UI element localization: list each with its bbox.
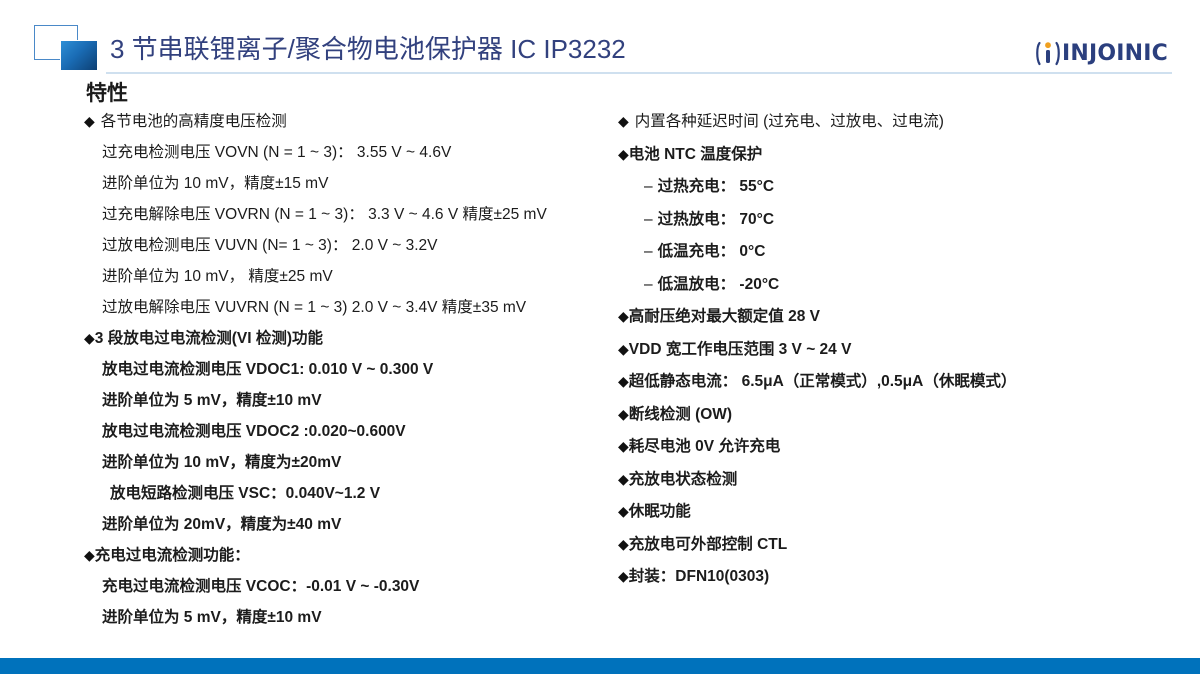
feature-line: ◆休眠功能 [618,502,1178,535]
feature-line: 放电短路检测电压 VSC：0.040V~1.2 V [84,484,629,515]
diamond-bullet-icon: ◆ [618,145,629,164]
feature-line-text: 过放电解除电压 VUVRN (N = 1 ~ 3) 2.0 V ~ 3.4V 精… [102,298,526,317]
diamond-bullet-icon: ◆ [84,329,95,348]
slide: 3 节串联锂离子/聚合物电池保护器 IC IP3232 INJOINIC 特性 … [0,0,1200,674]
feature-line-text: 3 段放电过电流检测(VI 检测)功能 [95,329,323,348]
feature-line-text: 耗尽电池 0V 允许充电 [629,437,781,456]
dash-bullet-icon: – [644,177,653,196]
diamond-bullet-icon: ◆ [618,535,629,554]
header-decoration-squares [34,25,106,71]
feature-line-text: 高耐压绝对最大额定值 28 V [629,307,820,326]
feature-line-text: 放电短路检测电压 VSC：0.040V~1.2 V [110,484,380,503]
feature-line-text: 放电过电流检测电压 VDOC2 :0.020~0.600V [102,422,406,441]
feature-line: 放电过电流检测电压 VDOC2 :0.020~0.600V [84,422,629,453]
diamond-bullet-icon: ◆ [618,372,629,391]
header-divider [106,72,1172,74]
feature-line: –过热放电： 70°C [618,210,1178,243]
feature-line-text: 过充电检测电压 VOVN (N = 1 ~ 3)： 3.55 V ~ 4.6V [102,143,451,162]
feature-line-text: 过放电检测电压 VUVN (N= 1 ~ 3)： 2.0 V ~ 3.2V [102,236,438,255]
feature-line: ◆封装：DFN10(0303) [618,567,1178,600]
dash-bullet-icon: – [644,242,653,261]
feature-line-text: 进阶单位为 10 mV，精度为±20mV [102,453,341,472]
feature-line-text: 电池 NTC 温度保护 [629,145,762,164]
footer-accent-bar [0,658,1200,674]
feature-line-text: 过热放电： 70°C [658,210,774,229]
section-heading: 特性 [86,80,128,108]
feature-line-text: 过热充电： 55°C [658,177,774,196]
feature-line-text: 内置各种延迟时间 (过充电、过放电、过电流) [635,112,944,131]
company-logo: INJOINIC [1035,38,1168,68]
feature-line: ◆充放电可外部控制 CTL [618,535,1178,568]
feature-line-text: 进阶单位为 10 mV，精度±15 mV [102,174,328,193]
feature-line: 进阶单位为 5 mV，精度±10 mV [84,391,629,422]
feature-line-text: 进阶单位为 5 mV，精度±10 mV [102,608,322,627]
feature-line-text: 进阶单位为 5 mV，精度±10 mV [102,391,322,410]
feature-line: –低温放电： -20°C [618,275,1178,308]
feature-line: 过放电检测电压 VUVN (N= 1 ~ 3)： 2.0 V ~ 3.2V [84,236,629,267]
features-right-column: ◆内置各种延迟时间 (过充电、过放电、过电流)◆电池 NTC 温度保护–过热充电… [618,112,1178,600]
dash-bullet-icon: – [644,275,653,294]
diamond-bullet-icon: ◆ [618,470,629,489]
diamond-bullet-icon: ◆ [618,340,629,359]
feature-line-text: 过充电解除电压 VOVRN (N = 1 ~ 3)： 3.3 V ~ 4.6 V… [102,205,547,224]
feature-line: ◆耗尽电池 0V 允许充电 [618,437,1178,470]
feature-line: ◆断线检测 (OW) [618,405,1178,438]
feature-line-text: 各节电池的高精度电压检测 [101,112,287,131]
feature-line-text: 休眠功能 [629,502,691,521]
diamond-bullet-icon: ◆ [618,405,629,424]
feature-line: ◆充电过电流检测功能： [84,546,629,577]
diamond-bullet-icon: ◆ [618,567,629,586]
feature-line: ◆3 段放电过电流检测(VI 检测)功能 [84,329,629,360]
dash-bullet-icon: – [644,210,653,229]
filled-square-shape [60,40,98,71]
feature-line: –过热充电： 55°C [618,177,1178,210]
feature-line: 进阶单位为 20mV，精度为±40 mV [84,515,629,546]
feature-line-text: 断线检测 (OW) [629,405,732,424]
feature-line: 进阶单位为 10 mV，精度±15 mV [84,174,629,205]
feature-line-text: 放电过电流检测电压 VDOC1: 0.010 V ~ 0.300 V [102,360,433,379]
feature-line-text: 充放电可外部控制 CTL [629,535,787,554]
feature-line: 进阶单位为 5 mV，精度±10 mV [84,608,629,639]
feature-line: 过充电检测电压 VOVN (N = 1 ~ 3)： 3.55 V ~ 4.6V [84,143,629,174]
feature-line: ◆电池 NTC 温度保护 [618,145,1178,178]
diamond-bullet-icon: ◆ [618,112,629,131]
feature-line: ◆超低静态电流： 6.5μA（正常模式）,0.5μA（休眠模式） [618,372,1178,405]
feature-line: ◆充放电状态检测 [618,470,1178,503]
feature-line: –低温充电： 0°C [618,242,1178,275]
feature-line-text: 超低静态电流： 6.5μA（正常模式）,0.5μA（休眠模式） [629,372,1017,391]
feature-line: 过充电解除电压 VOVRN (N = 1 ~ 3)： 3.3 V ~ 4.6 V… [84,205,629,236]
feature-line-text: 充电过电流检测电压 VCOC：-0.01 V ~ -0.30V [102,577,419,596]
feature-line: ◆VDD 宽工作电压范围 3 V ~ 24 V [618,340,1178,373]
feature-line: 进阶单位为 10 mV，精度为±20mV [84,453,629,484]
feature-line: ◆内置各种延迟时间 (过充电、过放电、过电流) [618,112,1178,145]
diamond-bullet-icon: ◆ [618,307,629,326]
injoinic-i-mark-icon [1035,39,1061,67]
features-left-column: ◆各节电池的高精度电压检测过充电检测电压 VOVN (N = 1 ~ 3)： 3… [84,112,629,639]
feature-line: ◆高耐压绝对最大额定值 28 V [618,307,1178,340]
feature-line: 过放电解除电压 VUVRN (N = 1 ~ 3) 2.0 V ~ 3.4V 精… [84,298,629,329]
feature-line-text: 进阶单位为 10 mV， 精度±25 mV [102,267,333,286]
diamond-bullet-icon: ◆ [84,112,95,131]
diamond-bullet-icon: ◆ [84,546,95,565]
feature-line-text: 充放电状态检测 [629,470,738,489]
feature-line-text: 低温放电： -20°C [658,275,780,294]
diamond-bullet-icon: ◆ [618,437,629,456]
diamond-bullet-icon: ◆ [618,502,629,521]
feature-line-text: VDD 宽工作电压范围 3 V ~ 24 V [629,340,852,359]
feature-line-text: 进阶单位为 20mV，精度为±40 mV [102,515,341,534]
feature-line: 充电过电流检测电压 VCOC：-0.01 V ~ -0.30V [84,577,629,608]
company-logo-text: INJOINIC [1062,41,1168,66]
page-title: 3 节串联锂离子/聚合物电池保护器 IC IP3232 [110,32,626,66]
feature-line-text: 封装：DFN10(0303) [629,567,769,586]
slide-header: 3 节串联锂离子/聚合物电池保护器 IC IP3232 INJOINIC [0,0,1200,80]
feature-line: 放电过电流检测电压 VDOC1: 0.010 V ~ 0.300 V [84,360,629,391]
feature-line-text: 低温充电： 0°C [658,242,766,261]
feature-line: ◆各节电池的高精度电压检测 [84,112,629,143]
feature-line-text: 充电过电流检测功能： [95,546,250,565]
feature-line: 进阶单位为 10 mV， 精度±25 mV [84,267,629,298]
